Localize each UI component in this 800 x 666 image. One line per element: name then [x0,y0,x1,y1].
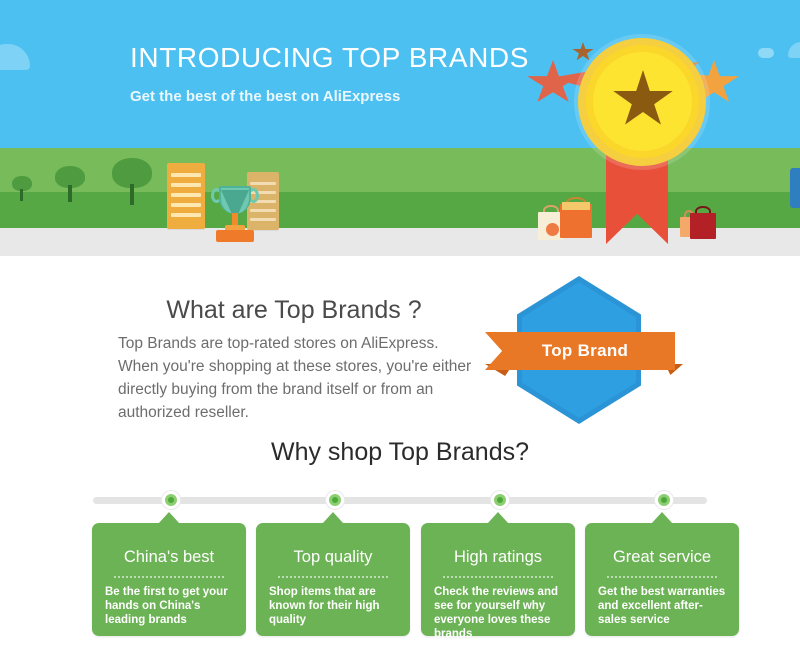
cloud-icon [758,48,774,58]
top-brand-hex-badge-icon: Top Brand [505,276,653,431]
card-body: Get the best warranties and excellent af… [598,585,731,627]
feature-card-chinas-best[interactable]: China's best Be the first to get your ha… [92,523,246,636]
hero-title: INTRODUCING TOP BRANDS [130,42,529,74]
feature-cards: China's best Be the first to get your ha… [0,520,800,650]
card-title: China's best [92,548,246,567]
timeline-dot-1[interactable] [162,491,180,509]
feature-card-top-quality[interactable]: Top quality Shop items that are known fo… [256,523,410,636]
timeline-dot-2[interactable] [326,491,344,509]
card-divider [114,576,224,578]
feature-card-high-ratings[interactable]: High ratings Check the reviews and see f… [421,523,575,636]
what-are-body: Top Brands are top-rated stores on AliEx… [118,332,480,424]
top-brand-ribbon-label: Top Brand [532,341,628,361]
card-body: Check the reviews and see for yourself w… [434,585,567,641]
timeline-dot-3[interactable] [491,491,509,509]
card-divider [278,576,388,578]
timeline-dot-4[interactable] [655,491,673,509]
trophy-icon [212,186,258,244]
card-pointer-arrow [651,512,673,524]
card-divider [443,576,553,578]
timeline-bar [93,497,707,504]
shopping-bag-icon [690,207,716,239]
card-title: Great service [585,548,739,567]
top-brands-page: INTRODUCING TOP BRANDS Get the best of t… [0,0,800,666]
certificate-icon [167,163,205,229]
shopping-bag-icon [560,198,592,238]
edge-decoration [790,168,800,208]
what-are-top-brands-section: What are Top Brands ? Top Brands are top… [0,256,800,432]
card-pointer-arrow [322,512,344,524]
feature-card-great-service[interactable]: Great service Get the best warranties an… [585,523,739,636]
feature-timeline [93,495,707,504]
tree-icon [12,176,32,202]
card-divider [607,576,717,578]
hero-subtitle: Get the best of the best on AliExpress [130,88,400,105]
tree-icon [112,158,152,204]
tree-icon [55,166,85,202]
card-body: Be the first to get your hands on China'… [105,585,238,627]
what-are-heading: What are Top Brands ? [118,296,470,325]
card-body: Shop items that are known for their high… [269,585,402,627]
card-pointer-arrow [487,512,509,524]
card-title: High ratings [421,548,575,567]
card-pointer-arrow [158,512,180,524]
hero-banner: INTRODUCING TOP BRANDS Get the best of t… [0,0,800,256]
why-shop-heading: Why shop Top Brands? [0,438,800,467]
card-title: Top quality [256,548,410,567]
top-brand-ribbon: Top Brand [485,332,675,370]
